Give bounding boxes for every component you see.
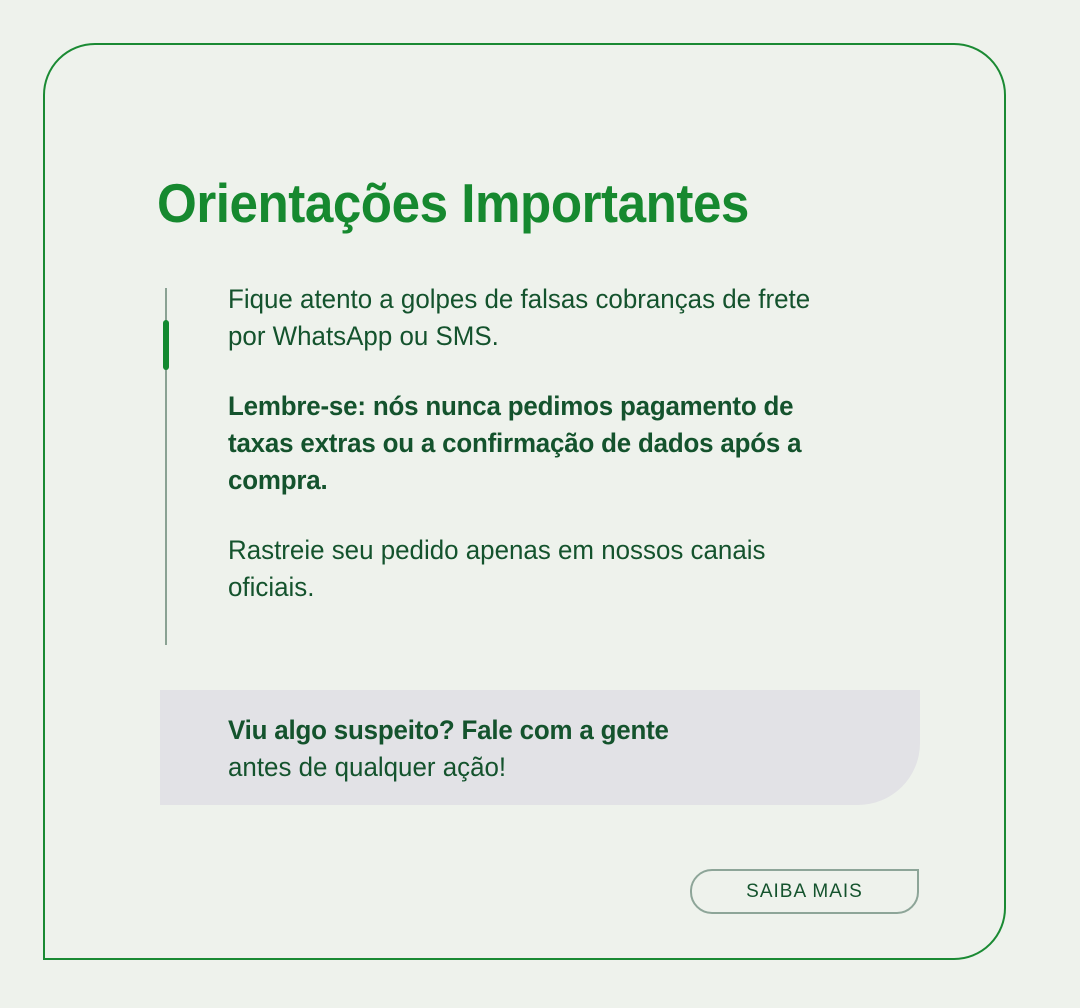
paragraph-never-ask-payment: Lembre-se: nós nunca pedimos pagamento d…	[228, 388, 823, 499]
callout-headline: Viu algo suspeito? Fale com a gente	[228, 712, 862, 749]
suspicious-activity-callout: Viu algo suspeito? Fale com a gente ante…	[160, 690, 920, 805]
paragraph-official-channels: Rastreie seu pedido apenas em nossos can…	[228, 532, 823, 606]
timeline-rail	[165, 288, 167, 645]
saiba-mais-label: SAIBA MAIS	[746, 881, 863, 903]
callout-subline: antes de qualquer ação!	[228, 749, 862, 786]
saiba-mais-button[interactable]: SAIBA MAIS	[690, 869, 919, 914]
callout-text-group: Viu algo suspeito? Fale com a gente ante…	[228, 712, 888, 786]
paragraph-scam-warning: Fique atento a golpes de falsas cobrança…	[228, 281, 823, 355]
page-title: Orientações Importantes	[157, 173, 749, 234]
timeline-active-segment	[163, 320, 169, 370]
promo-card-stage: Orientações Importantes Fique atento a g…	[0, 0, 1080, 1008]
body-paragraphs: Fique atento a golpes de falsas cobrança…	[228, 281, 848, 606]
